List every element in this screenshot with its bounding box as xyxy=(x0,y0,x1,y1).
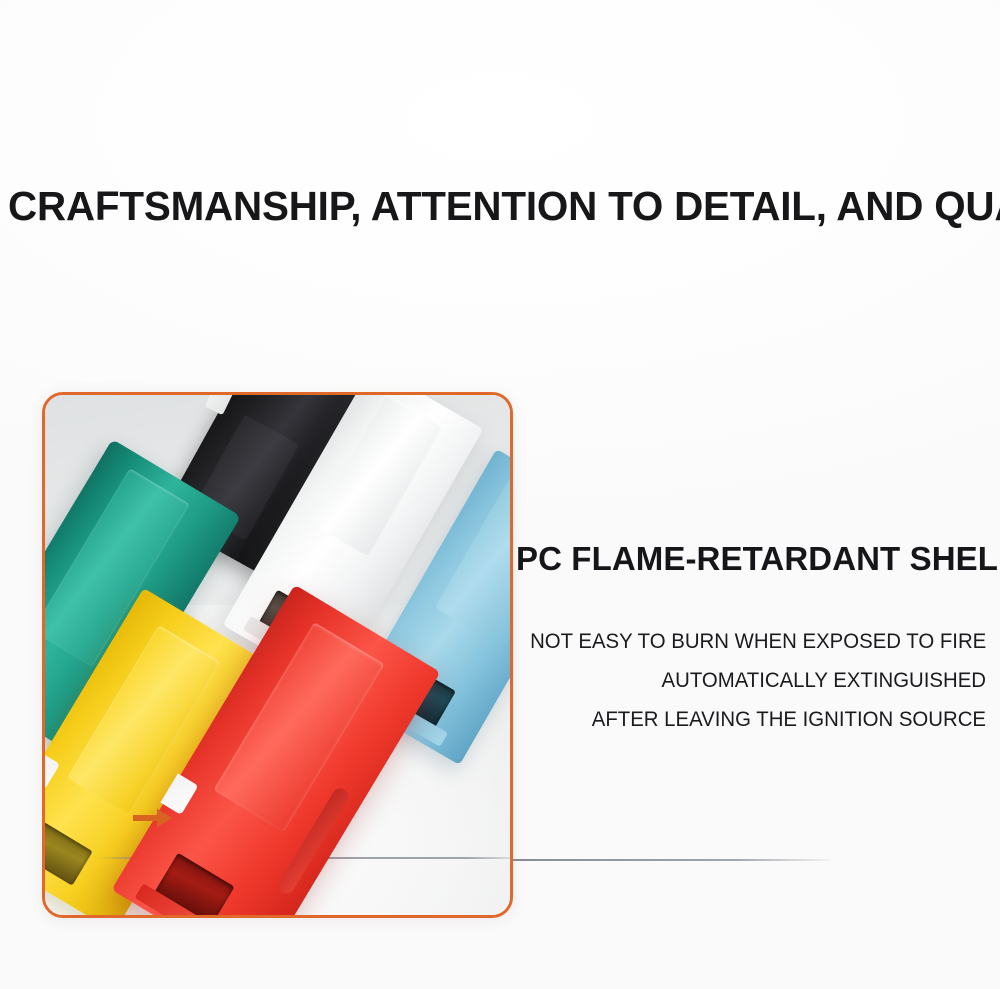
yellow-connector-notch xyxy=(45,753,60,790)
product-photo-frame xyxy=(42,392,513,918)
product-photo xyxy=(45,395,510,915)
feature-description-line-3: AFTER LEAVING THE IGNITION SOURCE xyxy=(530,700,986,739)
arrow-right-icon xyxy=(133,807,173,829)
divider-rule xyxy=(513,859,830,861)
yellow-connector-port xyxy=(45,822,93,886)
feature-description-line-1: NOT EASY TO BURN WHEN EXPOSED TO FIRE xyxy=(530,622,986,661)
page-title: CRAFTSMANSHIP, ATTENTION TO DETAIL, AND … xyxy=(8,183,961,229)
feature-copy: PC FLAME-RETARDANT SHELL NOT EASY TO BUR… xyxy=(516,540,986,739)
feature-description: NOT EASY TO BURN WHEN EXPOSED TO FIRE AU… xyxy=(516,622,986,739)
feature-description-line-2: AUTOMATICALLY EXTINGUISHED xyxy=(530,661,986,700)
feature-title: PC FLAME-RETARDANT SHELL xyxy=(516,540,986,578)
product-feature-page: CRAFTSMANSHIP, ATTENTION TO DETAIL, AND … xyxy=(0,0,1000,989)
